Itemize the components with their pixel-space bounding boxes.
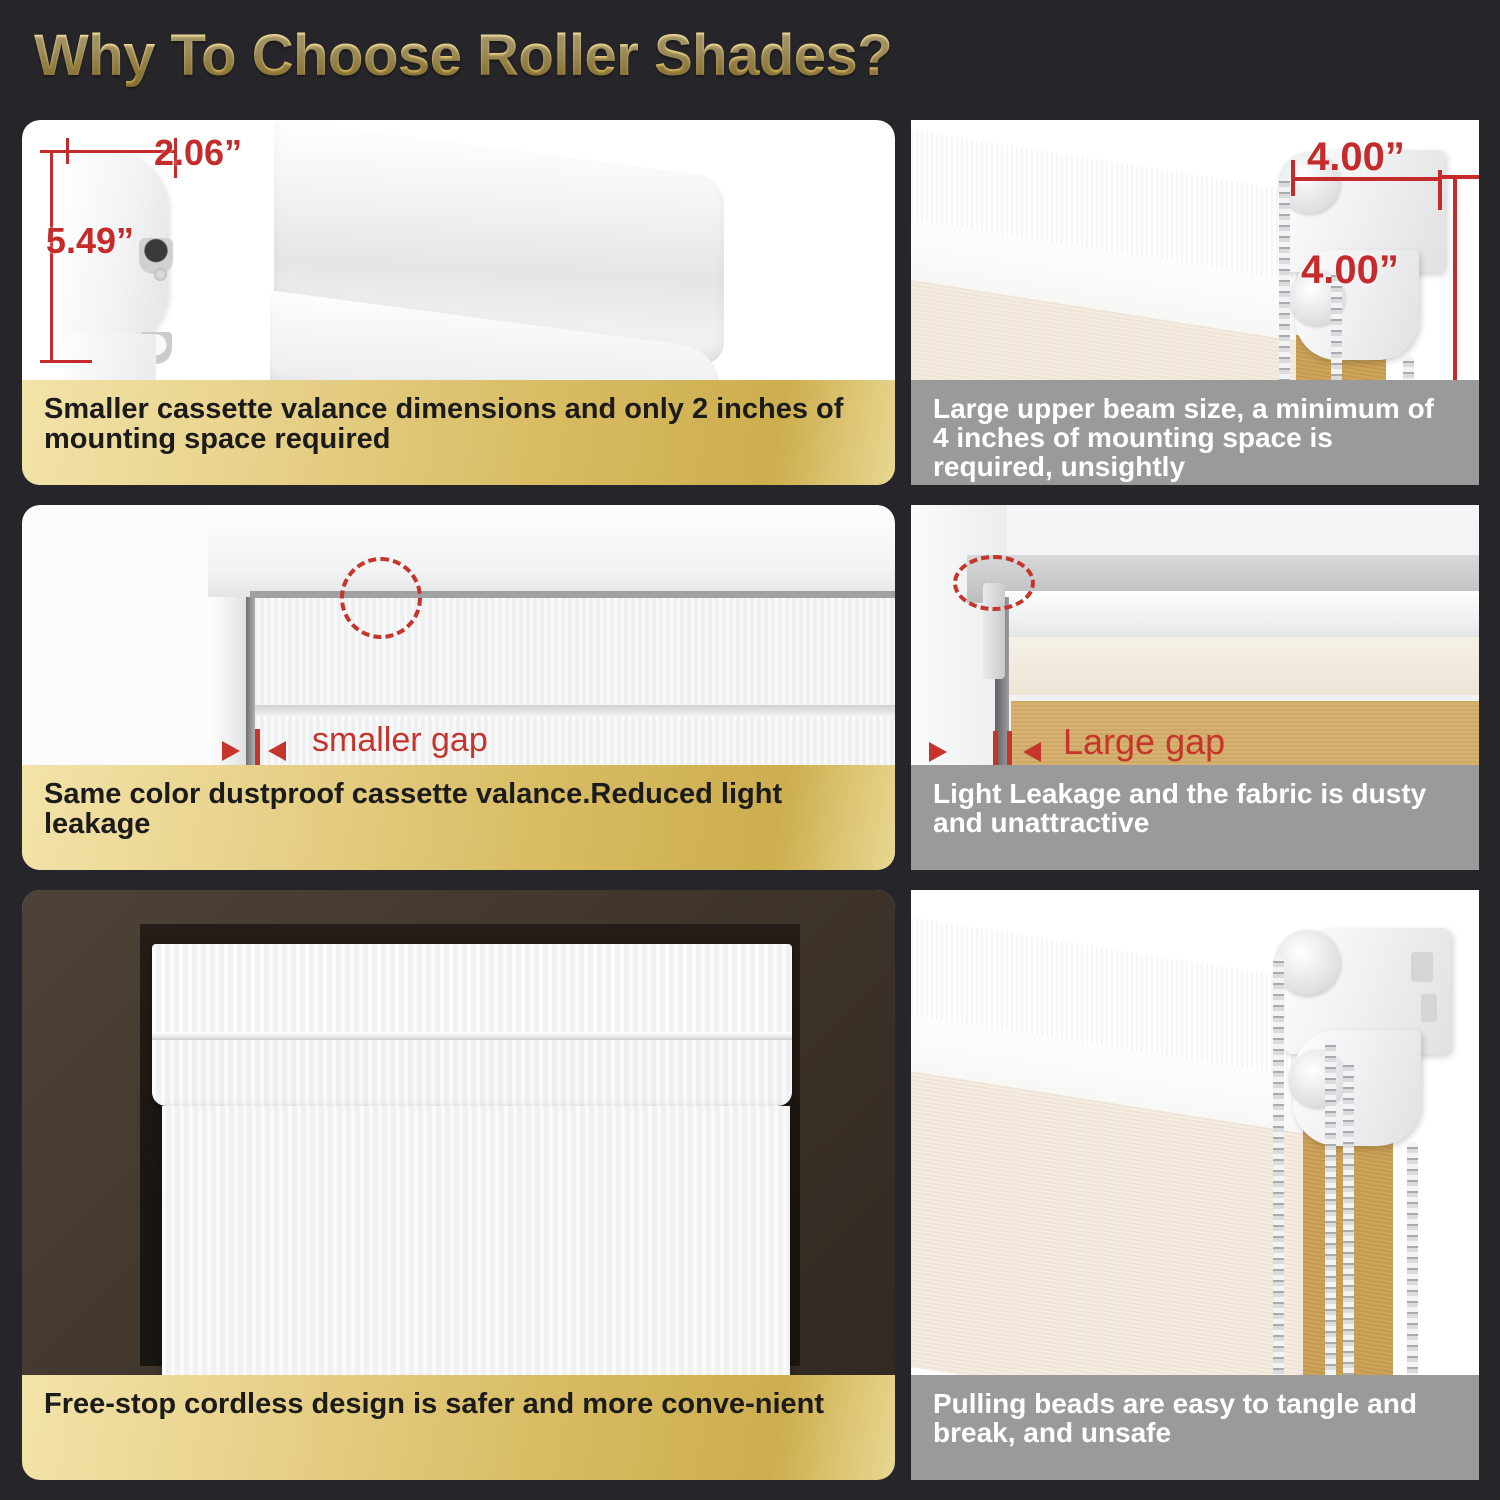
- panel-3-caption-text: Same color dustproof cassette valance.Re…: [44, 779, 873, 839]
- beam-height-label: 4.00”: [1301, 248, 1399, 293]
- gap-highlight-ellipse: [953, 555, 1035, 611]
- beam-width-tick-left: [1291, 160, 1295, 196]
- gap-arrow-right: [1023, 742, 1041, 762]
- panel-1-caption-text: Smaller cassette valance dimensions and …: [44, 394, 873, 454]
- panel-4-caption-bar: Light Leakage and the fabric is dusty an…: [911, 765, 1479, 870]
- gap-callout-label: smaller gap: [312, 721, 488, 760]
- panel-6-caption-text: Pulling beads are easy to tangle and bre…: [933, 1389, 1457, 1447]
- panel-con-pulling-beads: Pulling beads are easy to tangle and bre…: [911, 890, 1479, 1480]
- page-title: Why To Choose Roller Shades?: [34, 22, 892, 89]
- panel-pro-cassette-size: 2.06” 5.49” Smaller cassette valance dim…: [22, 120, 895, 485]
- panel-3-caption-bar: Same color dustproof cassette valance.Re…: [22, 765, 895, 870]
- panel-5-caption-bar: Free-stop cordless design is safer and m…: [22, 1375, 895, 1480]
- bracket-slot-icon: [1411, 952, 1433, 982]
- cassette-valance-head: [152, 944, 792, 1036]
- gap-arrow-left: [222, 741, 240, 761]
- gap-arrow-left: [929, 742, 947, 762]
- bracket-screw-boss-icon: [140, 332, 172, 364]
- gap-callout-label: Large gap: [1063, 721, 1225, 763]
- beam-height-dimension-line: [1453, 175, 1457, 390]
- panel-pro-cordless-design: Free-stop cordless design is safer and m…: [22, 890, 895, 1480]
- height-dimension-tick-top: [40, 150, 90, 153]
- panel-5-caption-text: Free-stop cordless design is safer and m…: [44, 1389, 824, 1419]
- panel-1-caption-bar: Smaller cassette valance dimensions and …: [22, 380, 895, 485]
- bead-chain-middle-2: [1343, 1060, 1354, 1422]
- gap-highlight-ellipse: [340, 557, 422, 639]
- bead-chain-middle: [1325, 1040, 1336, 1422]
- window-frame-wall: [22, 505, 212, 767]
- valance-fabric-cream: [999, 637, 1479, 695]
- bead-chain-left: [1273, 956, 1284, 1422]
- height-dimension-tick-bottom: [40, 360, 92, 363]
- panel-con-beam-size: 4.00” 4.00” Large upper beam size, a min…: [911, 120, 1479, 485]
- screw-icon: [154, 268, 167, 281]
- cassette-valance-roll: [152, 1040, 792, 1106]
- height-dimension-label: 5.49”: [22, 220, 134, 262]
- panel-pro-dustproof-valance: smaller gap Same color dustproof cassett…: [22, 505, 895, 870]
- panel-2-caption-text: Large upper beam size, a minimum of 4 in…: [933, 394, 1457, 481]
- valance-shadow-line: [250, 705, 895, 717]
- roller-end-disc-lower: [1289, 1050, 1347, 1108]
- width-dimension-label: 2.06”: [154, 132, 242, 174]
- beam-height-tick-top: [1439, 175, 1479, 179]
- panel-con-light-leakage: Large gap Light Leakage and the fabric i…: [911, 505, 1479, 870]
- bracket-slot-icon-2: [1421, 994, 1437, 1022]
- beam-width-label: 4.00”: [1307, 135, 1405, 180]
- gap-arrow-right: [268, 741, 286, 761]
- panel-4-caption-text: Light Leakage and the fabric is dusty an…: [933, 779, 1457, 837]
- window-frame-head: [208, 505, 895, 597]
- panel-2-caption-bar: Large upper beam size, a minimum of 4 in…: [911, 380, 1479, 485]
- panel-6-caption-bar: Pulling beads are easy to tangle and bre…: [911, 1375, 1479, 1480]
- roller-end-disc: [1275, 930, 1341, 996]
